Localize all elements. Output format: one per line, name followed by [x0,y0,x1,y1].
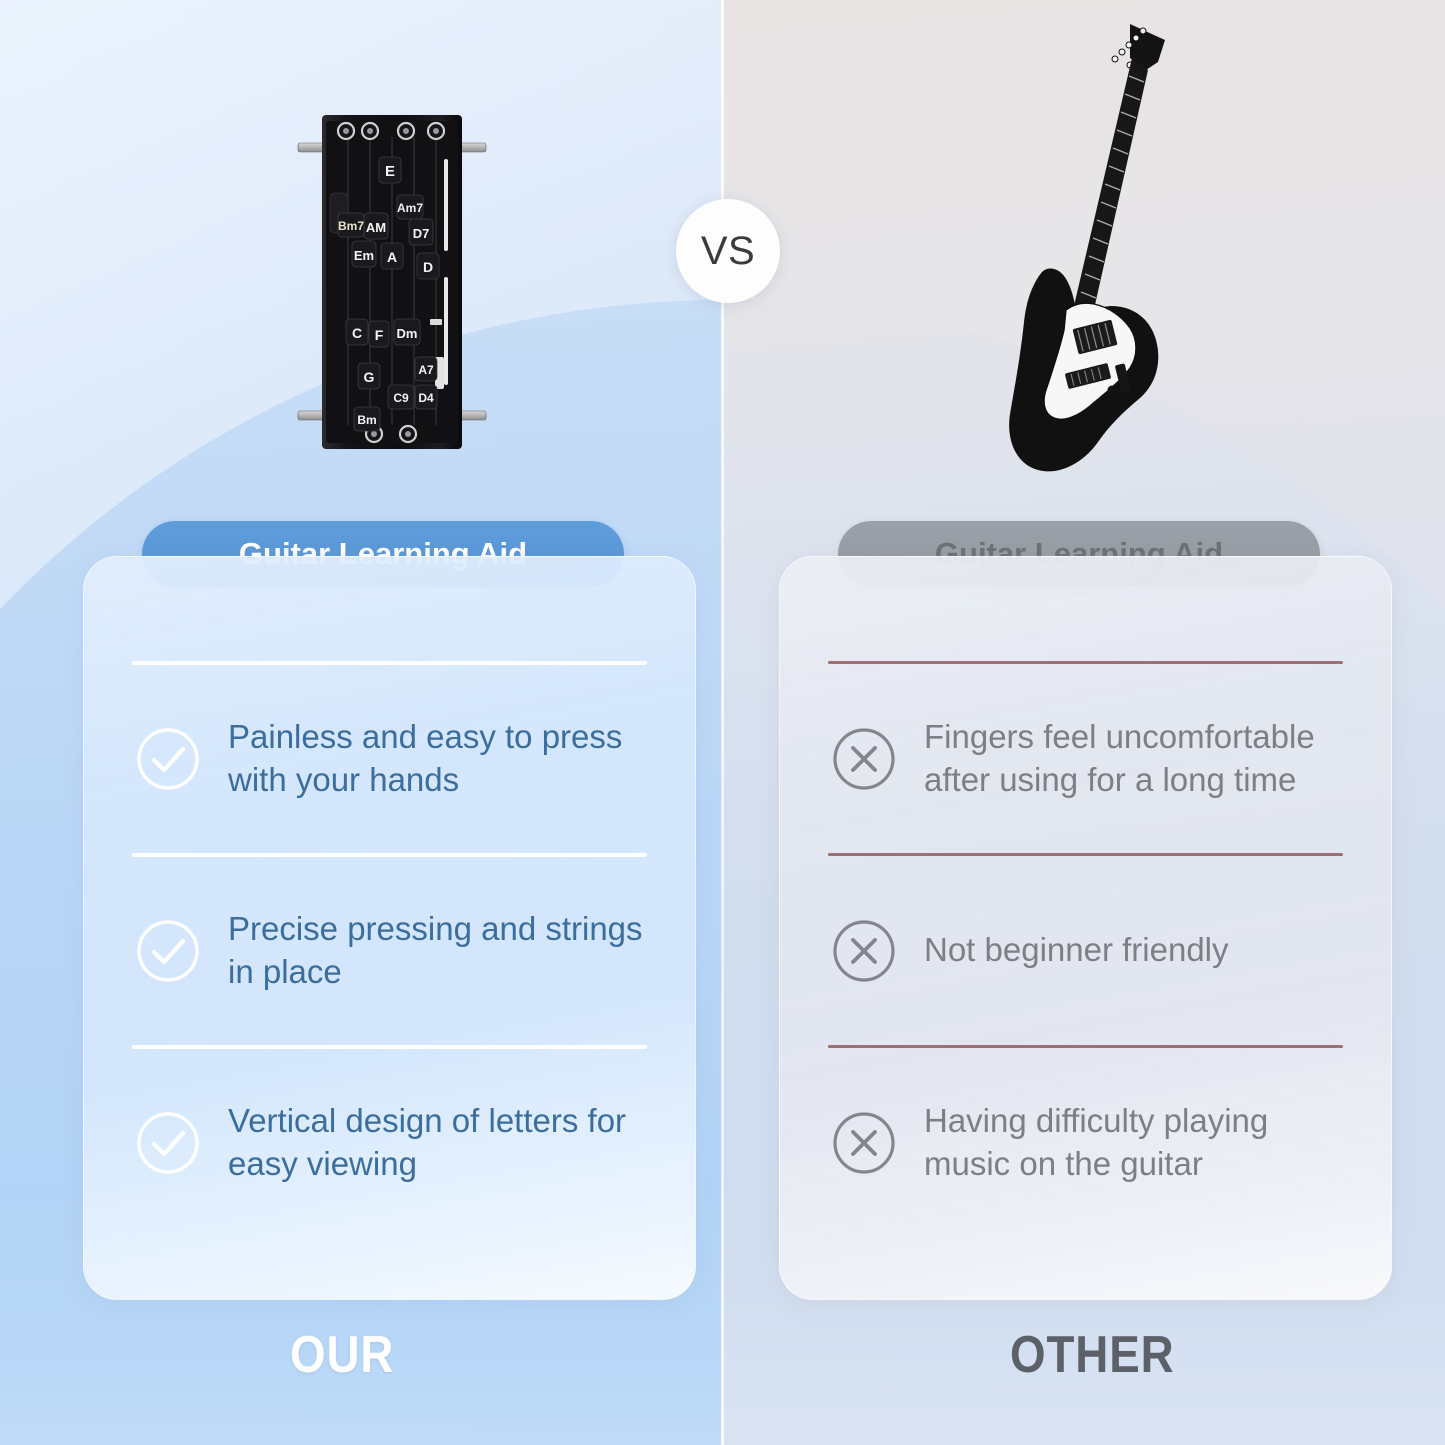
list-item-label: Vertical design of letters for easy view… [228,1100,647,1186]
vs-badge: VS [676,199,780,303]
svg-text:G: G [364,369,375,385]
x-circle-icon [828,1107,900,1179]
svg-text:Am7: Am7 [397,201,423,215]
svg-text:Bm7: Bm7 [338,219,364,233]
svg-text:D: D [423,259,433,275]
list-item: Not beginner friendly [828,856,1343,1045]
list-item-label: Fingers feel uncomfortable after using f… [924,716,1343,802]
our-card: Painless and easy to press with your han… [83,556,696,1300]
list-item: Having difficulty playing music on the g… [828,1048,1343,1237]
list-item: Fingers feel uncomfortable after using f… [828,664,1343,853]
list-item: Precise pressing and strings in place [132,857,647,1045]
svg-text:A: A [387,249,397,265]
svg-text:Bm: Bm [357,413,376,427]
electric-guitar-silhouette [980,18,1195,488]
list-item-label: Having difficulty playing music on the g… [924,1100,1343,1186]
check-circle-icon [132,915,204,987]
svg-text:D4: D4 [418,391,434,405]
check-circle-icon [132,1107,204,1179]
svg-text:C9: C9 [393,391,409,405]
svg-text:A7: A7 [418,363,434,377]
svg-text:Dm: Dm [397,326,418,341]
other-footer-label: OTHER [1010,1325,1175,1385]
svg-text:C: C [352,325,362,341]
other-card: Fingers feel uncomfortable after using f… [779,556,1392,1300]
list-item-label: Painless and easy to press with your han… [228,716,647,802]
list-item-label: Precise pressing and strings in place [228,908,647,994]
svg-text:Em: Em [354,248,374,263]
check-circle-icon [132,723,204,795]
list-item-label: Not beginner friendly [924,929,1229,972]
svg-text:E: E [385,163,395,180]
svg-text:D7: D7 [413,226,430,241]
list-item: Painless and easy to press with your han… [132,665,647,853]
vs-label: VS [701,229,755,274]
svg-text:AM: AM [366,220,386,235]
x-circle-icon [828,915,900,987]
x-circle-icon [828,723,900,795]
guitar-learning-aid-device: E Am7 Bm7 AM D7 [296,107,488,457]
svg-text:F: F [375,327,384,343]
comparison-infographic: E Am7 Bm7 AM D7 [0,0,1445,1445]
our-footer-label: OUR [290,1325,394,1385]
list-item: Vertical design of letters for easy view… [132,1049,647,1237]
